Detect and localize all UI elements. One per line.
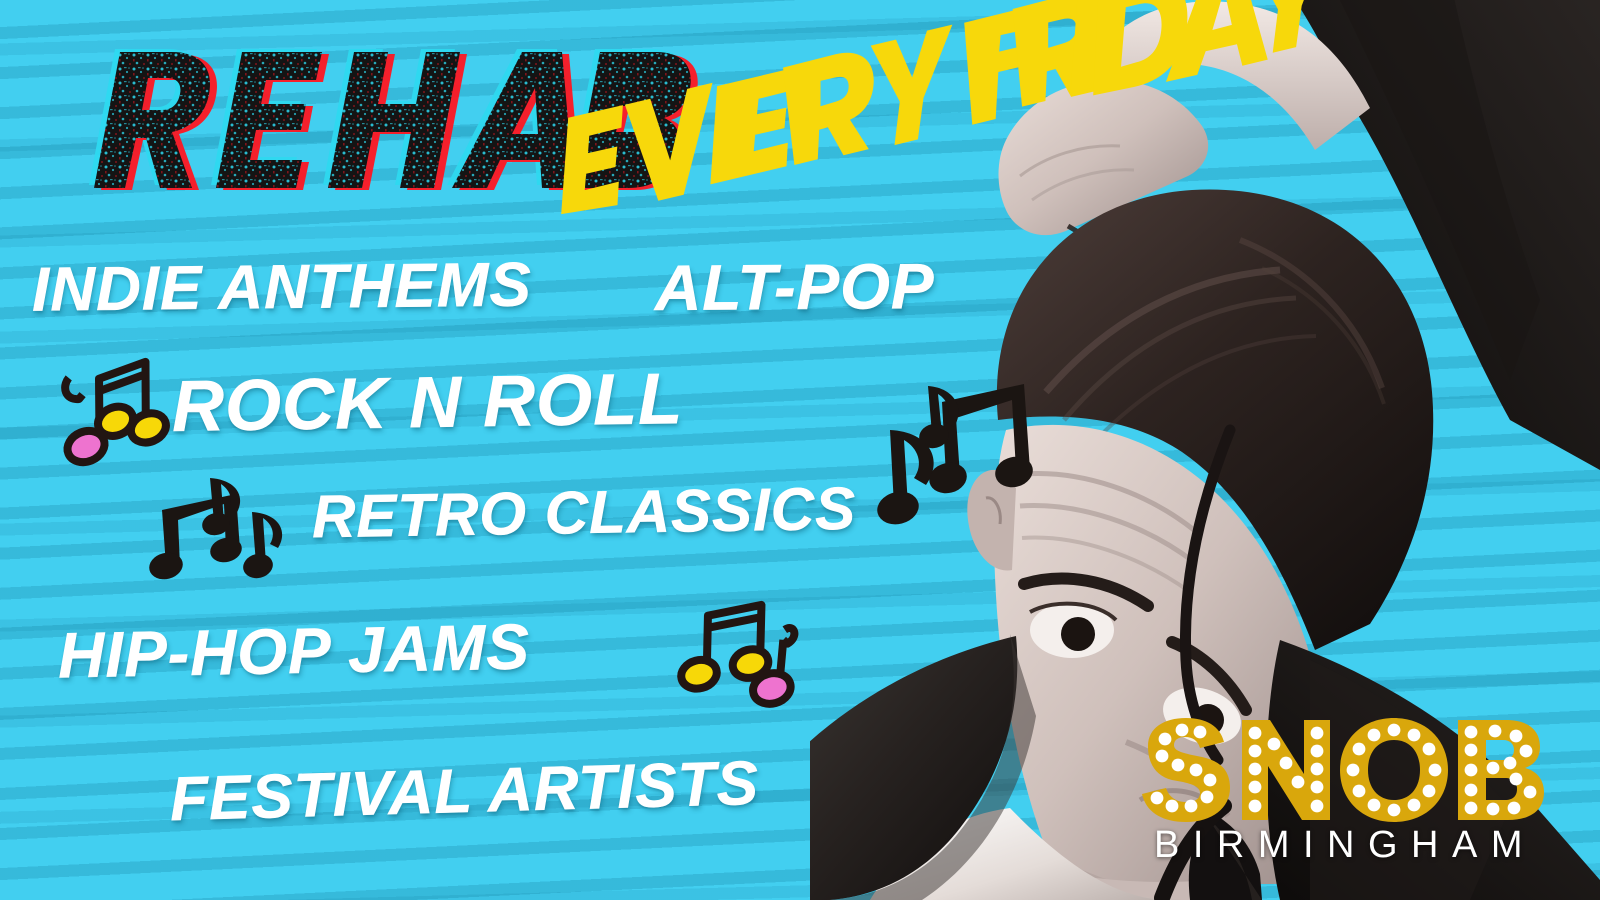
event-title	[76, 38, 596, 198]
genre-retro-classics: RETRO CLASSICS	[311, 474, 856, 552]
event-poster: INDIE ANTHEMS ALT-POP ROCK N ROLL RETRO …	[0, 0, 1600, 900]
music-notes-icon	[49, 347, 168, 468]
genre-hip-hop-jams: HIP-HOP JAMS	[57, 609, 530, 692]
genre-indie-anthems: INDIE ANTHEMS	[32, 249, 533, 325]
music-notes-black-left-artwork	[148, 468, 278, 584]
music-notes-icon	[675, 595, 809, 714]
music-notes-icon	[872, 378, 1022, 536]
music-notes-black-center-artwork	[872, 378, 1022, 536]
venue-city: BIRMINGHAM	[1154, 826, 1568, 864]
genre-rock-n-roll: ROCK N ROLL	[171, 358, 683, 448]
music-notes-icon	[148, 468, 278, 584]
genre-alt-pop: ALT-POP	[655, 249, 935, 325]
event-title-artwork	[76, 38, 596, 198]
venue-name-artwork	[1138, 718, 1552, 822]
music-notes-colored-lower-artwork	[675, 595, 809, 714]
venue-logo: BIRMINGHAM	[1138, 718, 1568, 878]
music-notes-colored-artwork	[49, 347, 168, 468]
